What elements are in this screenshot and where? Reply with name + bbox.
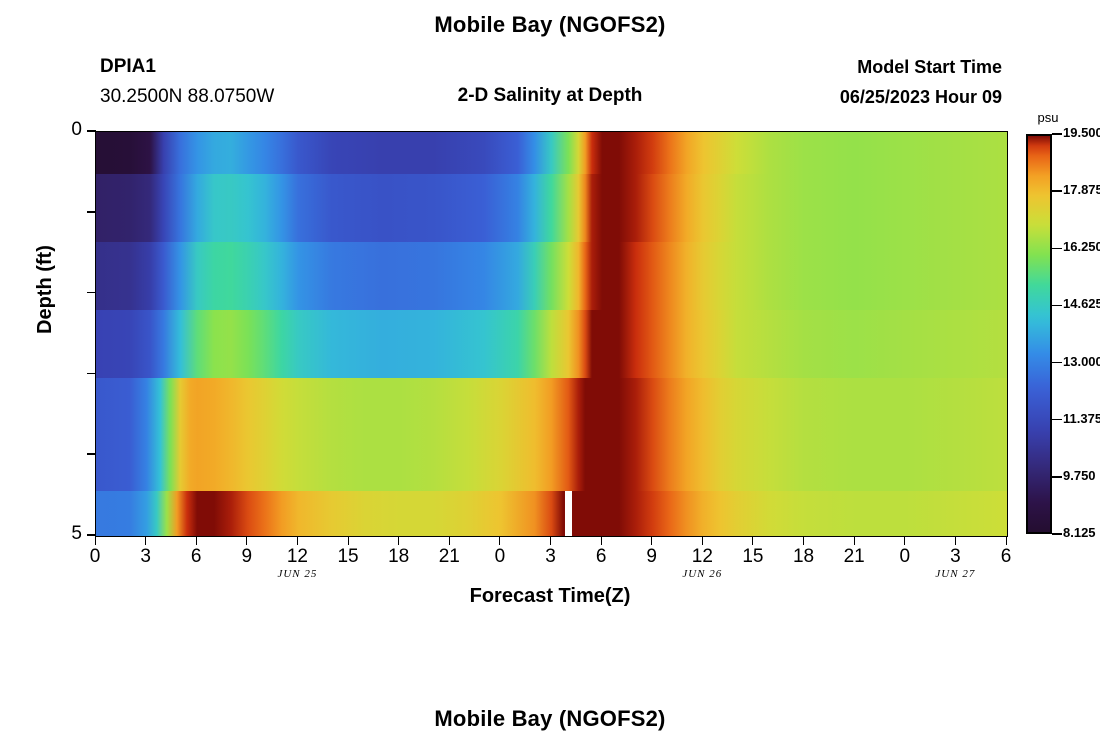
x-axis-day-label: JUN 25	[252, 568, 342, 580]
colorbar-tick	[1052, 533, 1062, 535]
x-axis-tick	[702, 537, 703, 545]
x-axis-tick	[651, 537, 652, 545]
x-axis-tick-label: 15	[328, 546, 368, 568]
colorbar-tick-label: 8.125	[1063, 525, 1096, 540]
x-axis-tick-label: 3	[126, 546, 166, 568]
x-axis-tick-label: 21	[429, 546, 469, 568]
x-axis-day-label: JUN 27	[910, 568, 1000, 580]
x-axis-tick-label: 3	[531, 546, 571, 568]
x-axis-tick-label: 12	[277, 546, 317, 568]
x-axis-tick-label: 15	[733, 546, 773, 568]
x-axis-tick-label: 0	[885, 546, 925, 568]
y-axis-tick	[87, 211, 96, 213]
y-axis-tick	[87, 534, 96, 536]
x-axis-tick	[145, 537, 146, 545]
model-start-time-label: Model Start Time	[857, 57, 1002, 78]
colorbar-tick-label: 16.250	[1063, 239, 1100, 254]
colorbar-tick	[1052, 476, 1062, 478]
heatmap-depth-band	[96, 132, 1007, 175]
colorbar-tick	[1052, 190, 1062, 192]
x-axis-tick	[297, 537, 298, 545]
x-axis-tick-label: 3	[935, 546, 975, 568]
heatmap-depth-band	[96, 242, 1007, 310]
x-axis-tick	[95, 537, 96, 545]
model-start-time-value: 06/25/2023 Hour 09	[840, 87, 1002, 108]
x-axis-tick-label: 0	[480, 546, 520, 568]
x-axis-tick-label: 6	[176, 546, 216, 568]
colorbar-tick-label: 17.875	[1063, 182, 1100, 197]
y-axis-tick	[87, 373, 96, 375]
colorbar-unit-label: psu	[1026, 110, 1070, 125]
station-id: DPIA1	[100, 56, 156, 78]
colorbar-tick-label: 13.000	[1063, 354, 1100, 369]
x-axis-label: Forecast Time(Z)	[0, 585, 1100, 608]
x-axis-tick-label: 9	[227, 546, 267, 568]
x-axis-tick-label: 18	[379, 546, 419, 568]
x-axis-tick-label: 18	[784, 546, 824, 568]
footer-title: Mobile Bay (NGOFS2)	[0, 706, 1100, 732]
y-axis-tick	[87, 130, 96, 132]
colorbar	[1026, 134, 1052, 534]
x-axis-tick	[752, 537, 753, 545]
y-axis-label: Depth (ft)	[34, 245, 57, 334]
y-axis-tick-label: 5	[42, 523, 82, 545]
x-axis-tick	[398, 537, 399, 545]
x-axis-tick-label: 9	[632, 546, 672, 568]
heatmap-depth-band	[96, 174, 1007, 242]
x-axis-tick	[246, 537, 247, 545]
colorbar-tick	[1052, 362, 1062, 364]
x-axis-tick	[955, 537, 956, 545]
colorbar-tick	[1052, 419, 1062, 421]
x-axis-tick	[550, 537, 551, 545]
heatmap-plot-area	[95, 131, 1008, 537]
x-axis-tick	[196, 537, 197, 545]
x-axis-day-label: JUN 26	[657, 568, 747, 580]
x-axis-tick	[904, 537, 905, 545]
heatmap-depth-band	[96, 491, 1007, 537]
colorbar-tick	[1052, 305, 1062, 307]
colorbar-tick-label: 9.750	[1063, 468, 1096, 483]
page-title: Mobile Bay (NGOFS2)	[0, 12, 1100, 38]
colorbar-tick	[1052, 248, 1062, 250]
chart-page: Mobile Bay (NGOFS2) DPIA1 30.2500N 88.07…	[0, 0, 1100, 750]
x-axis-tick	[854, 537, 855, 545]
y-axis-tick-label: 0	[42, 119, 82, 141]
y-axis-tick	[87, 453, 96, 455]
x-axis-tick-label: 6	[581, 546, 621, 568]
colorbar-tick-label: 14.625	[1063, 296, 1100, 311]
colorbar-tick-label: 11.375	[1063, 411, 1100, 426]
x-axis-tick	[348, 537, 349, 545]
y-axis-tick	[87, 292, 96, 294]
colorbar-tick-label: 19.500	[1063, 125, 1100, 140]
x-axis-tick-label: 21	[834, 546, 874, 568]
missing-data-gap	[565, 491, 572, 536]
x-axis-tick	[601, 537, 602, 545]
x-axis-tick	[803, 537, 804, 545]
x-axis-tick	[1006, 537, 1007, 545]
x-axis-tick-label: 6	[986, 546, 1026, 568]
x-axis-tick	[499, 537, 500, 545]
x-axis-tick	[449, 537, 450, 545]
x-axis-tick-label: 0	[75, 546, 115, 568]
heatmap-depth-band	[96, 310, 1007, 378]
colorbar-tick	[1052, 133, 1062, 135]
x-axis-tick-label: 12	[682, 546, 722, 568]
heatmap-depth-band	[96, 378, 1007, 492]
